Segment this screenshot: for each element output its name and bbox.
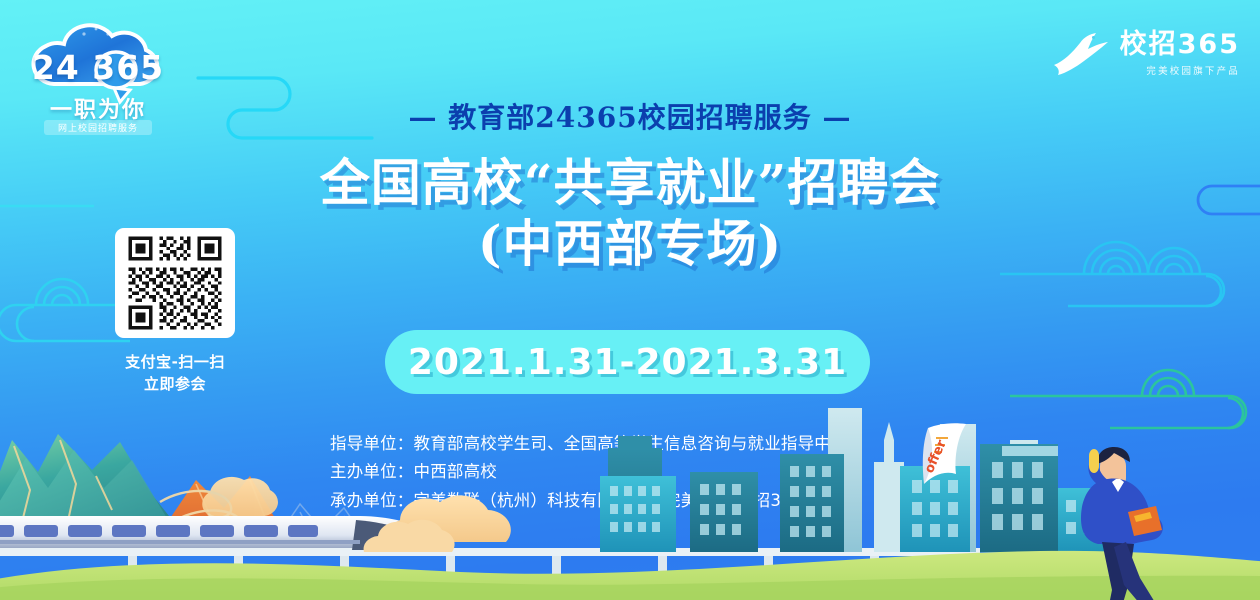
date-range-text: 2021.1.31-2021.3.31 — [408, 342, 847, 383]
cloud-motif-right-top — [1106, 178, 1260, 228]
logo-24365: 24 365 一职为你 网上校园招聘服务 — [18, 14, 178, 136]
title-line-1: 全国高校“共享就业”招聘会 — [320, 153, 941, 212]
logo-number: 24 365 — [18, 48, 178, 87]
logo-xiaozhao-main: 校招365 — [1120, 31, 1240, 59]
qr-caption-line-1: 支付宝-扫一扫 — [105, 352, 245, 374]
city-skyline-icon — [600, 408, 1104, 552]
logo-ribbon: 网上校园招聘服务 — [44, 120, 152, 135]
eyebrow-text: — 教育部24365校园招聘服务 — — [260, 96, 1000, 136]
logo-xiaozhao365: 校招365 完美校园旗下产品 — [1050, 26, 1240, 82]
cloud-motif-right-arc-upper — [1060, 218, 1260, 310]
title-line-2: (中西部专场) — [260, 213, 1000, 274]
scenery-illustration: offer — [0, 380, 1260, 600]
qr-code-icon[interactable] — [120, 233, 230, 333]
page-title: 全国高校“共享就业”招聘会 (中西部专场) — [260, 152, 1000, 274]
logo-xiaozhao-sub: 完美校园旗下产品 — [1120, 63, 1240, 77]
bird-icon — [1050, 31, 1110, 77]
headline-group: — 教育部24365校园招聘服务 — 全国高校“共享就业”招聘会 (中西部专场) — [260, 96, 1000, 274]
qr-card[interactable] — [115, 228, 235, 338]
promo-banner: 24 365 一职为你 网上校园招聘服务 校招365 完美校园旗下产品 — 教育… — [0, 0, 1260, 600]
cloud-motif-left-line — [0, 196, 110, 216]
qr-block[interactable]: 支付宝-扫一扫 立即参会 — [105, 228, 245, 396]
